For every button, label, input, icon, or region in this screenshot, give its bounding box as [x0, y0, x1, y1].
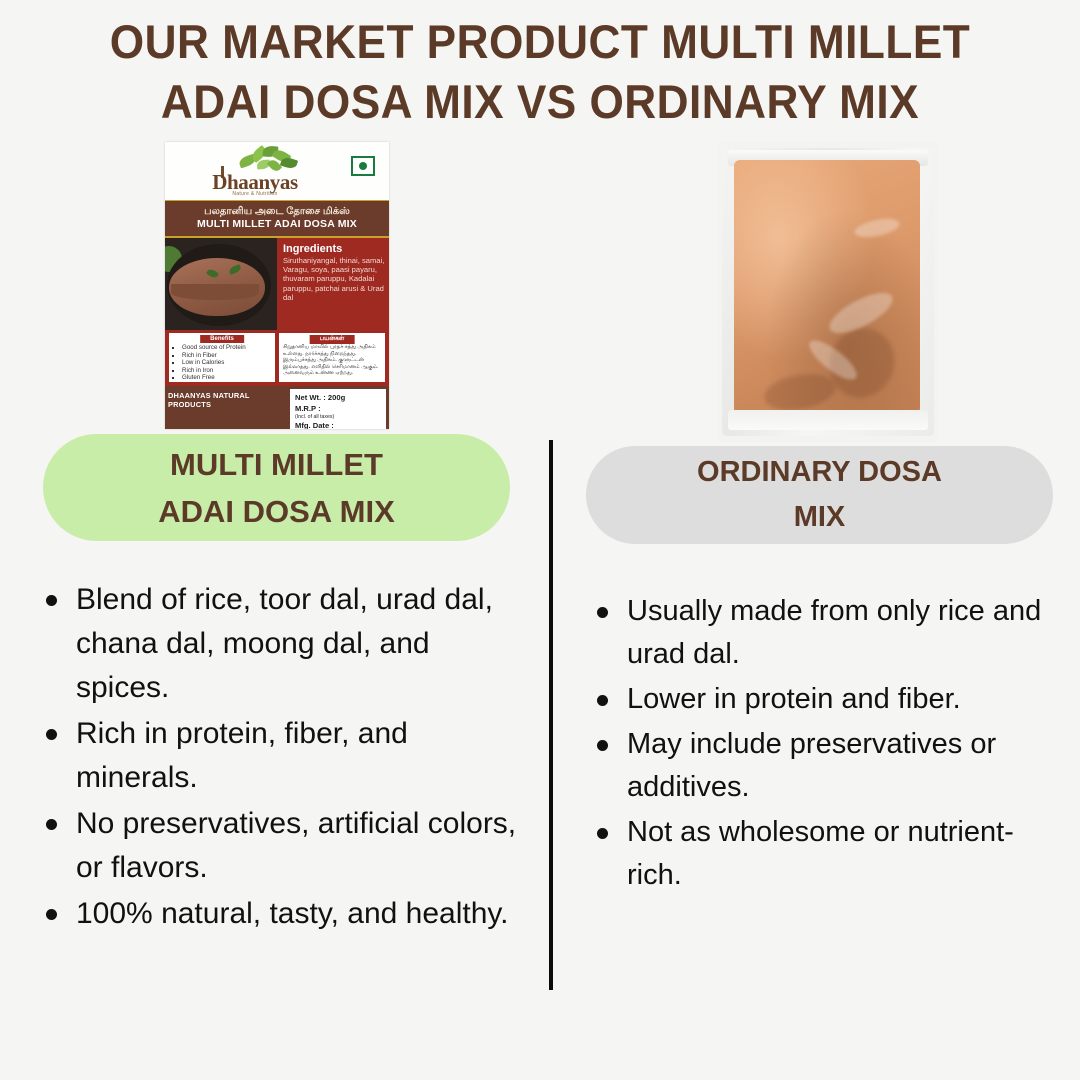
- right-pill-line-1: ORDINARY DOSA: [697, 450, 942, 495]
- package-logo-zone: Dhaanyas Nature & Nutrition: [165, 142, 389, 200]
- package-title-band: பலதானிய அடை தோசை மிக்ஸ் MULTI MILLET ADA…: [165, 200, 389, 238]
- package-footer: DHAANYAS NATURAL PRODUCTS Net Wt. : 200g…: [165, 386, 389, 429]
- leaf-tree-icon: [237, 146, 299, 173]
- benefits-box-english: Benefits Good source of Protein Rich in …: [169, 333, 275, 382]
- ordinary-mix-pouch-image: [718, 142, 938, 442]
- list-item: Blend of rice, toor dal, urad dal, chana…: [30, 578, 530, 710]
- title-line-2: ADAI DOSA MIX VS ORDINARY MIX: [32, 72, 1047, 132]
- list-item: May include preservatives or additives.: [581, 723, 1059, 809]
- mrp-label: M.R.P :: [295, 404, 381, 415]
- title-line-1: OUR MARKET PRODUCT MULTI MILLET: [32, 12, 1047, 72]
- net-weight: Net Wt. : 200g: [295, 393, 381, 404]
- right-pill-line-2: MIX: [697, 495, 942, 540]
- pouch-seal-bottom: [728, 410, 928, 430]
- package-photo-ingredients-row: Ingredients Siruthaniyangal, thinai, sam…: [165, 238, 389, 330]
- list-item: Lower in protein and fiber.: [581, 678, 1059, 721]
- ingredients-title: Ingredients: [283, 243, 385, 255]
- list-item: No preservatives, artificial colors, or …: [30, 802, 530, 890]
- ingredients-panel: Ingredients Siruthaniyangal, thinai, sam…: [277, 238, 389, 330]
- company-line: DHAANYAS NATURAL PRODUCTS: [168, 389, 287, 429]
- column-divider: [549, 440, 553, 990]
- list-item: Rich in protein, fiber, and minerals.: [30, 712, 530, 800]
- powder-contents: [734, 160, 920, 418]
- page-title: OUR MARKET PRODUCT MULTI MILLET ADAI DOS…: [0, 12, 1080, 132]
- dosa-photo: [165, 238, 277, 330]
- mfg-date-label: Mfg. Date :: [295, 421, 381, 429]
- list-item: Usually made from only rice and urad dal…: [581, 590, 1059, 676]
- benefits-list: Good source of Protein Rich in Fiber Low…: [173, 344, 271, 382]
- right-feature-list: Usually made from only rice and urad dal…: [581, 590, 1059, 899]
- benefit-item: Gluten Free: [182, 374, 271, 382]
- benefits-caption-tamil: பயன்கள்: [310, 335, 355, 344]
- list-item: Not as wholesome or nutrient-rich.: [581, 811, 1059, 897]
- package-title-tamil: பலதானிய அடை தோசை மிக்ஸ்: [165, 205, 389, 218]
- veg-dot: [359, 162, 367, 170]
- benefits-box-tamil: பயன்கள் சிறுதானிய மாவில் புரதச் சத்து அத…: [279, 333, 385, 382]
- left-feature-list: Blend of rice, toor dal, urad dal, chana…: [30, 578, 530, 938]
- list-item: 100% natural, tasty, and healthy.: [30, 892, 530, 936]
- left-pill-line-1: MULTI MILLET: [158, 441, 395, 488]
- package-benefits-row: Benefits Good source of Protein Rich in …: [165, 330, 389, 386]
- right-column-heading-pill: ORDINARY DOSA MIX: [586, 446, 1053, 544]
- package-title-english: MULTI MILLET ADAI DOSA MIX: [165, 218, 389, 231]
- dosa-fold: [171, 284, 259, 300]
- package-specs: Net Wt. : 200g M.R.P : (Incl. of all tax…: [290, 389, 386, 429]
- left-column-heading-pill: MULTI MILLET ADAI DOSA MIX: [43, 434, 510, 541]
- benefits-caption: Benefits: [200, 335, 244, 343]
- benefit-item: Rich in Fiber: [182, 352, 271, 360]
- dhaanyas-logo: Dhaanyas Nature & Nutrition: [191, 146, 319, 198]
- vegetarian-mark-icon: [351, 156, 375, 176]
- mrp-note: (Incl. of all taxes): [295, 414, 381, 421]
- brand-tagline: Nature & Nutrition: [191, 191, 319, 197]
- left-pill-line-2: ADAI DOSA MIX: [158, 488, 395, 535]
- benefit-item: Good source of Protein: [182, 344, 271, 352]
- multi-millet-package-image: Dhaanyas Nature & Nutrition பலதானிய அடை …: [165, 142, 389, 429]
- benefits-text-tamil: சிறுதானிய மாவில் புரதச் சத்து அதிகம் உள்…: [283, 344, 381, 377]
- benefit-item: Low in Calories: [182, 359, 271, 367]
- benefit-item: Rich in Iron: [182, 367, 271, 375]
- film-crease: [853, 215, 901, 240]
- ingredients-text: Siruthaniyangal, thinai, samai, Varagu, …: [283, 256, 385, 302]
- powder-shadow: [762, 369, 839, 415]
